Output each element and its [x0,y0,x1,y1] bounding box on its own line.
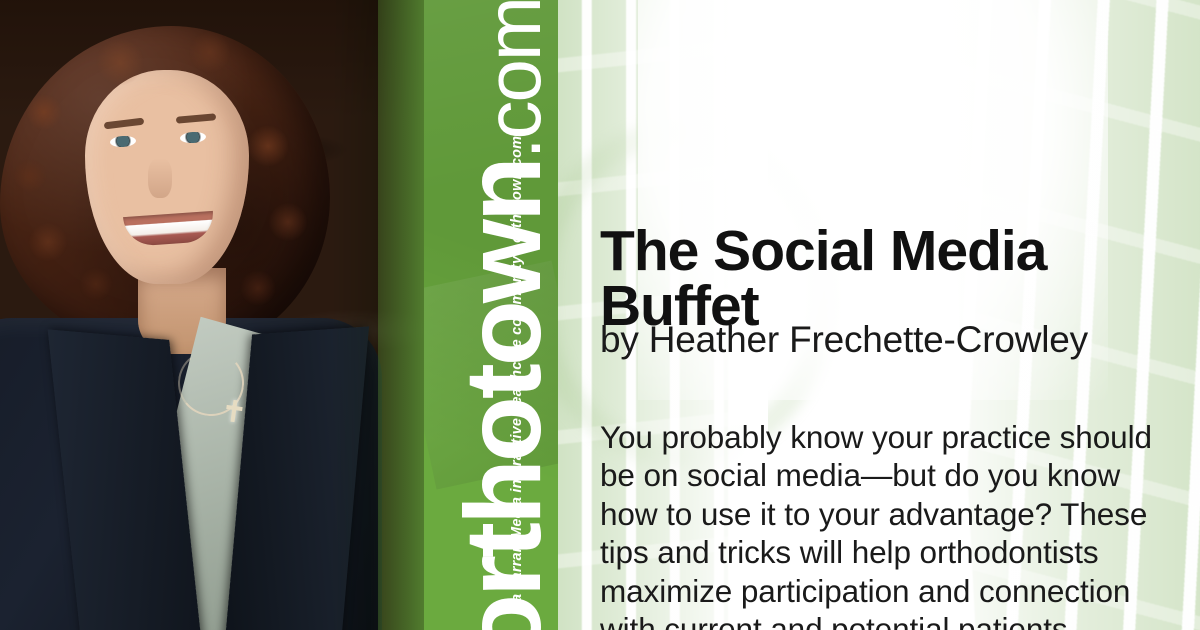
article-byline: by Heather Frechette-Crowley [600,318,1200,362]
headline-line-1: The Social Media [600,224,1180,279]
author-portrait [0,18,352,630]
article-content-panel: The Social Media Buffet by Heather Frech… [558,0,1200,630]
brand-logo-wordmark[interactable]: orthotown.com [449,0,557,630]
article-deck: You probably know your practice should b… [600,418,1180,630]
brand-tagline: a Farran Media interactive healthcare co… [509,42,525,608]
article-banner: orthotown.com a Farran Media interactive… [0,0,1200,630]
brand-logo-name: orthotown [442,159,558,630]
brand-band: orthotown.com a Farran Media interactive… [424,0,558,630]
article-text-block: The Social Media Buffet by Heather Frech… [600,0,1200,630]
author-photo-panel [0,0,424,630]
brand-logo-stack[interactable]: orthotown.com a Farran Media interactive… [424,0,558,630]
photo-green-overlay-edge [378,0,424,630]
hair-curls-detail [0,26,330,356]
